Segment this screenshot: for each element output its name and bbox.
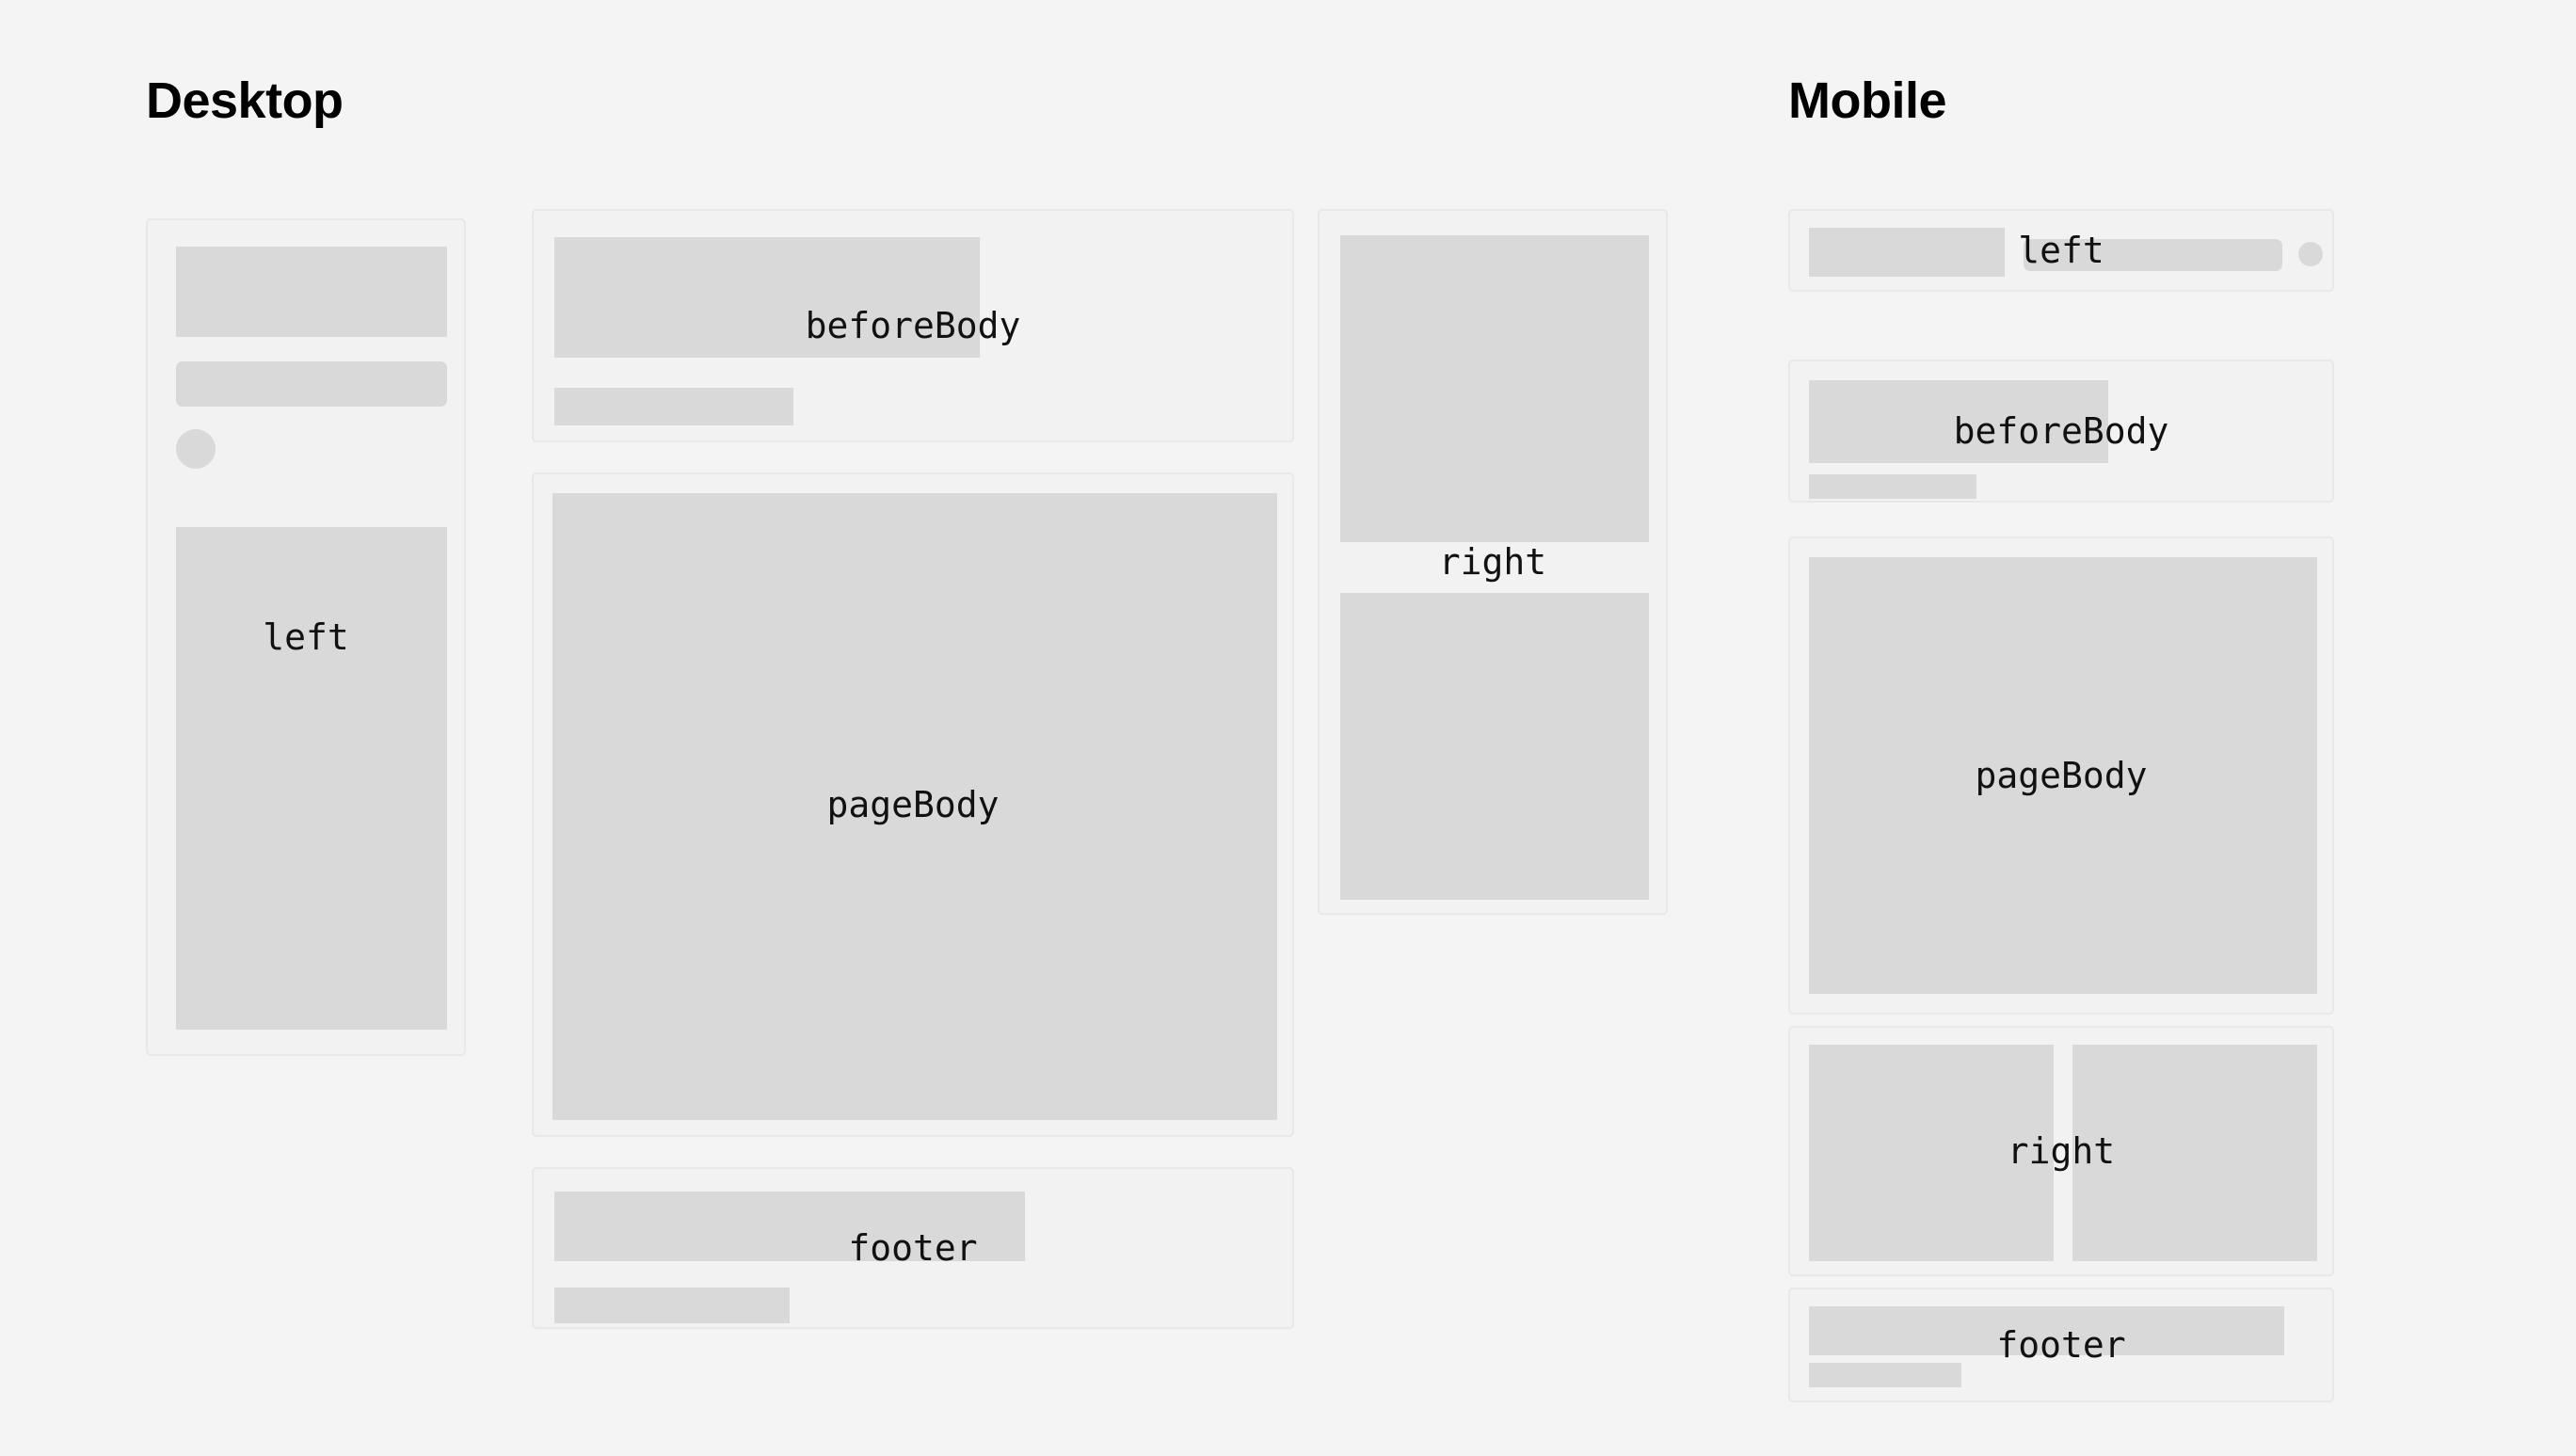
- skeleton-block-fill: [1809, 557, 2317, 994]
- skeleton-block-tall: [176, 527, 447, 1030]
- desktop-page-body-slot-card[interactable]: pageBody: [532, 472, 1294, 1137]
- skeleton-block-rect: [1340, 593, 1649, 900]
- skeleton-block-rect: [1809, 228, 2005, 277]
- skeleton-block-circle: [176, 429, 216, 469]
- skeleton-block-circle: [2298, 242, 2323, 266]
- skeleton-block-rect: [1340, 235, 1649, 542]
- skeleton-block-bar: [2024, 239, 2282, 271]
- desktop-right-slot-card[interactable]: right: [1318, 209, 1668, 915]
- skeleton-block-bar: [554, 1288, 790, 1323]
- mobile-right-slot-card[interactable]: right: [1788, 1026, 2334, 1276]
- skeleton-block-rect: [554, 237, 980, 358]
- skeleton-block-bar: [176, 361, 447, 407]
- desktop-left-slot-card[interactable]: left: [146, 218, 466, 1056]
- skeleton-block-bar: [1809, 1363, 1961, 1387]
- skeleton-block-bar: [1809, 474, 1976, 499]
- skeleton-block-rect: [1809, 1306, 2284, 1355]
- skeleton-block-rect: [1809, 380, 2108, 463]
- skeleton-block-rect: [1809, 1045, 2054, 1261]
- layout-preview-canvas: Desktop left beforeBody pageBody footer …: [0, 0, 2576, 1456]
- skeleton-block-fill: [552, 493, 1277, 1120]
- mobile-section-heading: Mobile: [1788, 75, 1946, 126]
- skeleton-block-rect: [2072, 1045, 2317, 1261]
- skeleton-block-rect: [554, 1192, 1025, 1261]
- mobile-page-body-slot-card[interactable]: pageBody: [1788, 536, 2334, 1015]
- desktop-section-heading: Desktop: [146, 75, 344, 126]
- mobile-footer-slot-card[interactable]: footer: [1788, 1288, 2334, 1402]
- desktop-footer-slot-card[interactable]: footer: [532, 1167, 1294, 1329]
- mobile-before-body-slot-card[interactable]: beforeBody: [1788, 360, 2334, 503]
- skeleton-block-bar: [554, 388, 793, 425]
- desktop-before-body-slot-card[interactable]: beforeBody: [532, 209, 1294, 442]
- mobile-left-slot-card[interactable]: left: [1788, 209, 2334, 292]
- skeleton-block-rect: [176, 247, 447, 337]
